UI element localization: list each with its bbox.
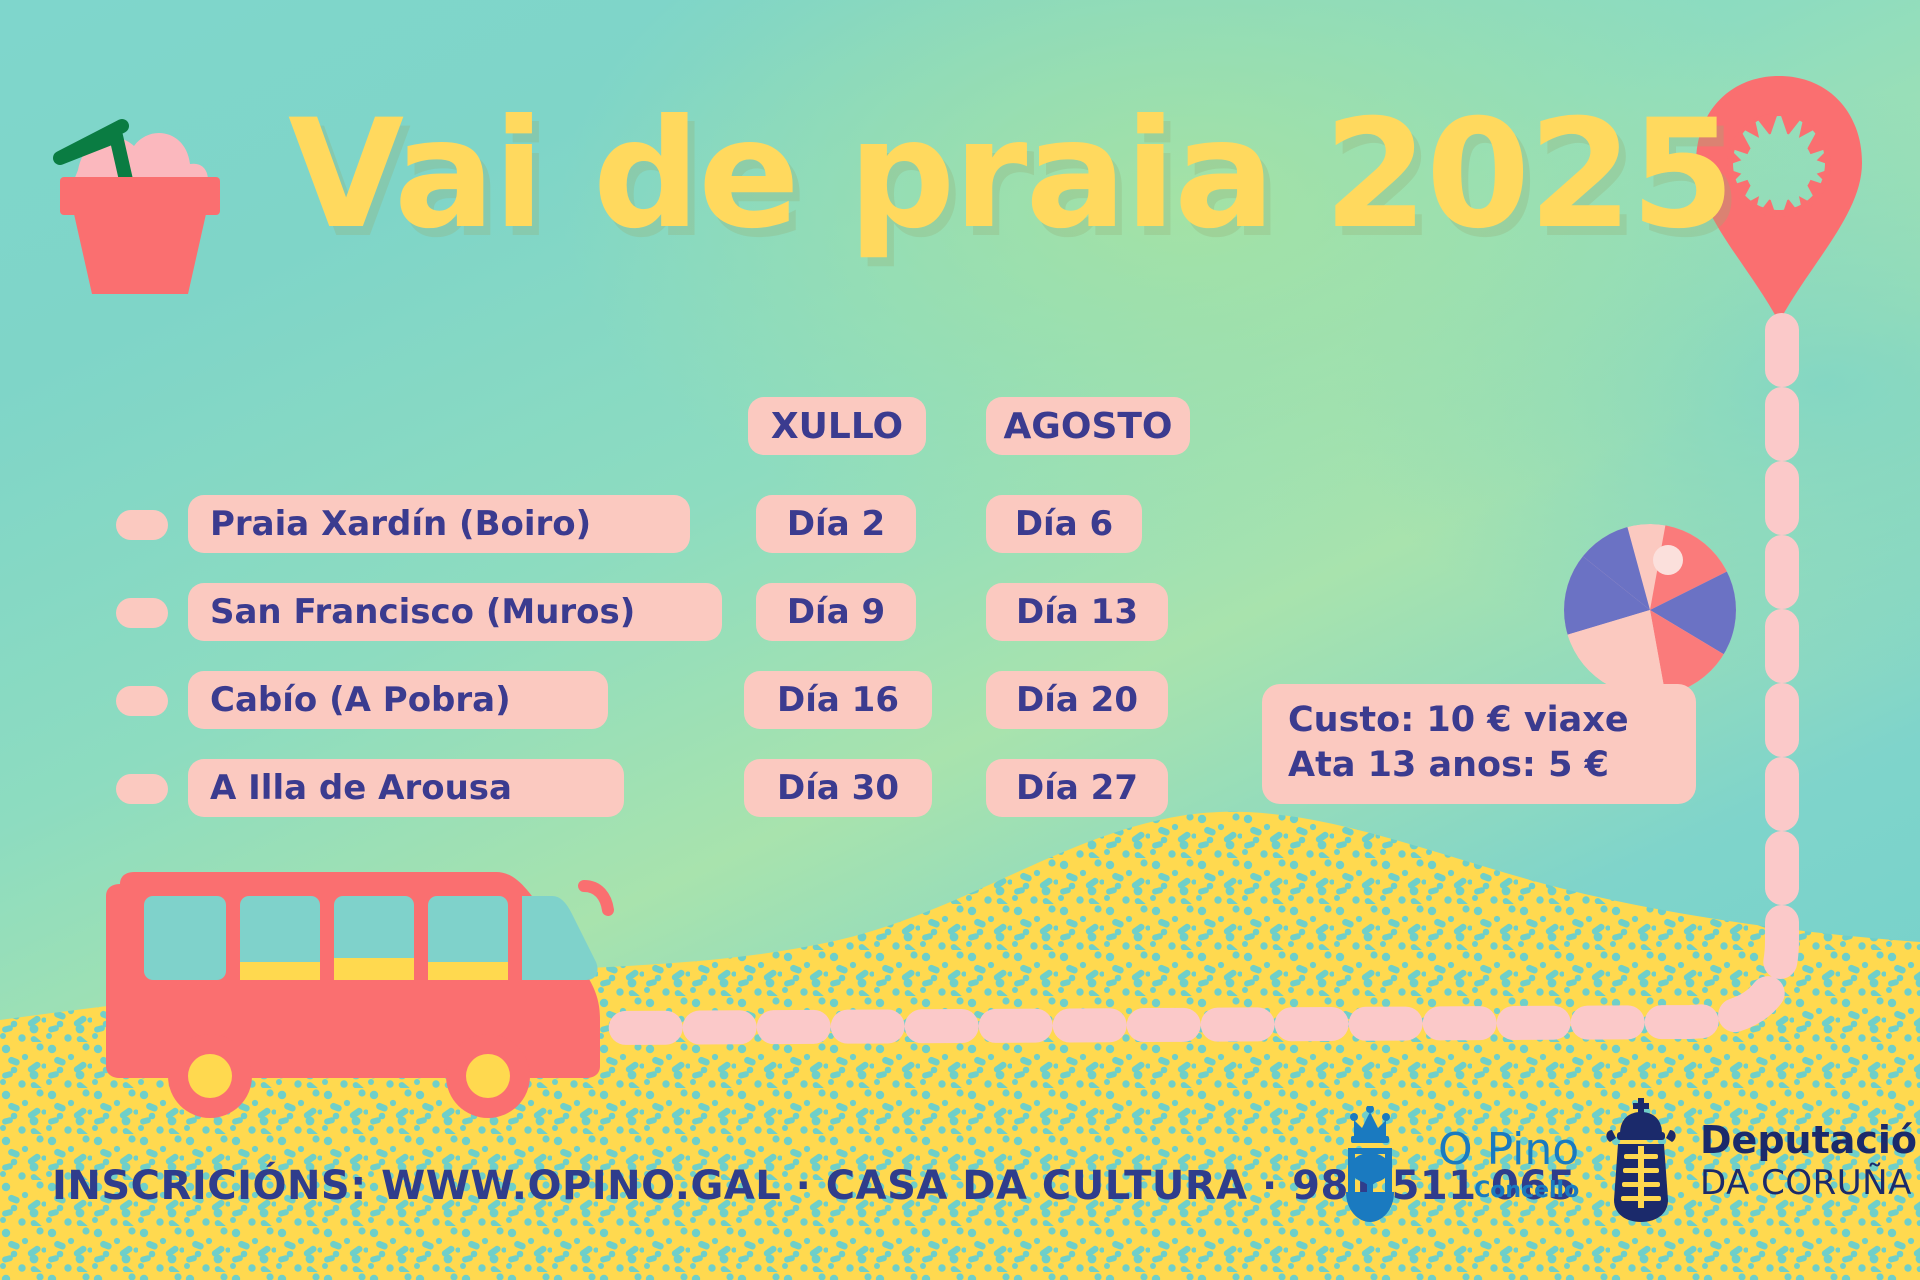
table-row-xullo-day: Día 2	[756, 495, 916, 553]
list-bullet	[116, 598, 168, 628]
logo-o-pino-name: O Pino	[1438, 1128, 1579, 1172]
table-row-agosto-day: Día 13	[986, 583, 1168, 641]
table-row-agosto-day: Día 6	[986, 495, 1142, 553]
beach-ball-icon	[1560, 520, 1740, 700]
deputacion-shield-icon	[1600, 1096, 1684, 1224]
table-row-xullo-day: Día 16	[744, 671, 932, 729]
table-row-xullo-day: Día 9	[756, 583, 916, 641]
logo-deputacion-coruna: Deputación DA CORUÑA	[1600, 1096, 1920, 1224]
table-row-place: San Francisco (Muros)	[188, 583, 722, 641]
table-row-place: A Illa de Arousa	[188, 759, 624, 817]
list-bullet	[116, 510, 168, 540]
table-row-xullo-day: Día 30	[744, 759, 932, 817]
price-line-trip: Custo: 10 € viaxe	[1288, 698, 1670, 743]
logo-o-pino-sub: Concello	[1438, 1180, 1579, 1202]
table-row-agosto-day: Día 27	[986, 759, 1168, 817]
month-header-xullo: XULLO	[748, 397, 926, 455]
table-row-place: Praia Xardín (Boiro)	[188, 495, 690, 553]
poster-canvas: Vai de praia 2025 XULLO AGOSTO Praia Xar…	[0, 0, 1920, 1280]
list-bullet	[116, 774, 168, 804]
price-line-child: Ata 13 anos: 5 €	[1288, 743, 1670, 788]
price-box: Custo: 10 € viaxe Ata 13 anos: 5 €	[1262, 684, 1696, 804]
list-bullet	[116, 686, 168, 716]
logo-deputacion-line1: Deputación	[1700, 1121, 1920, 1159]
table-row-agosto-day: Día 20	[986, 671, 1168, 729]
logo-o-pino: O Pino Concello	[1338, 1106, 1579, 1224]
month-header-agosto: AGOSTO	[986, 397, 1190, 455]
logo-deputacion-line2: DA CORUÑA	[1700, 1166, 1920, 1200]
page-title: Vai de praia 2025	[288, 100, 1733, 250]
bus-icon	[84, 870, 624, 1130]
o-pino-shield-icon	[1338, 1106, 1424, 1224]
table-row-place: Cabío (A Pobra)	[188, 671, 608, 729]
